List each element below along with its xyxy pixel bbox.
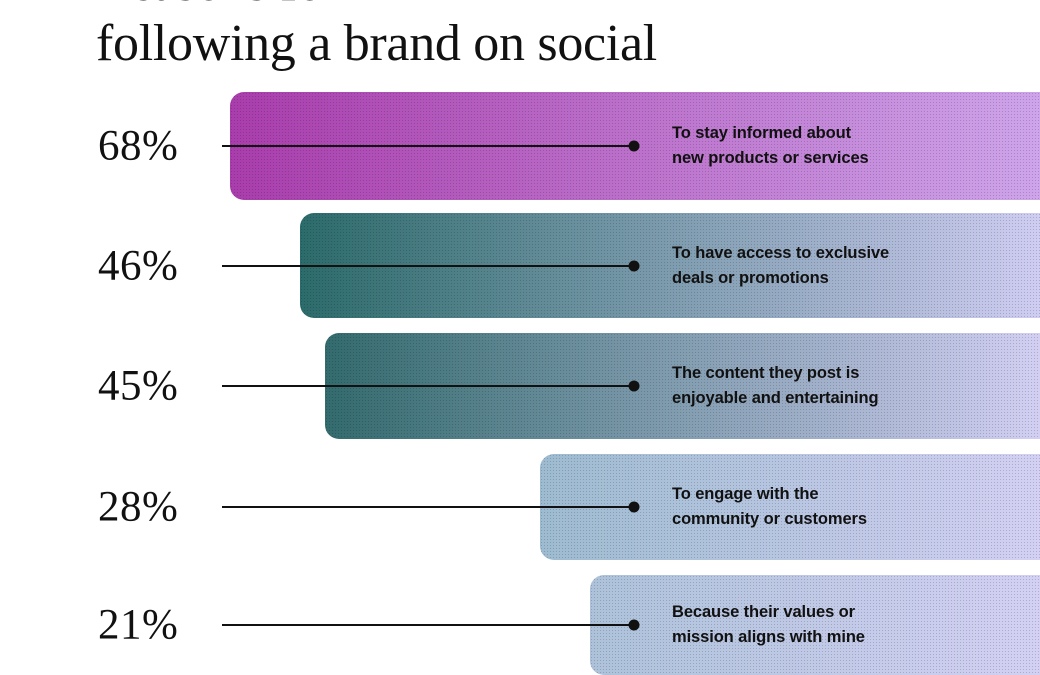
- leader-dot: [629, 260, 640, 271]
- page-title: Reasons for following a brand on social: [96, 0, 976, 74]
- bar-row: 46%To have access to exclusive deals or …: [0, 213, 1040, 318]
- leader-dot: [629, 381, 640, 392]
- leader-line: [222, 385, 634, 387]
- bar-category-label: To have access to exclusive deals or pro…: [672, 241, 1012, 291]
- bar-value-label: 21%: [98, 604, 223, 647]
- bar-row: 68%To stay informed about new products o…: [0, 92, 1040, 200]
- bar-value-label: 68%: [98, 125, 223, 168]
- infographic-root: Reasons for following a brand on social …: [0, 0, 1040, 675]
- bar-row: 21%Because their values or mission align…: [0, 575, 1040, 675]
- bar-category-label: To engage with the community or customer…: [672, 482, 1012, 532]
- bar-category-label: Because their values or mission aligns w…: [672, 600, 1012, 650]
- bar-category-label: The content they post is enjoyable and e…: [672, 361, 1012, 411]
- bar-row: 28%To engage with the community or custo…: [0, 454, 1040, 560]
- bar-value-label: 28%: [98, 486, 223, 529]
- bar-category-label: To stay informed about new products or s…: [672, 121, 1012, 171]
- leader-dot: [629, 502, 640, 513]
- leader-line: [222, 506, 634, 508]
- leader-line: [222, 624, 634, 626]
- leader-dot: [629, 620, 640, 631]
- bar-row: 45%The content they post is enjoyable an…: [0, 333, 1040, 439]
- bar-value-label: 45%: [98, 365, 223, 408]
- leader-dot: [629, 141, 640, 152]
- leader-line: [222, 265, 634, 267]
- leader-line: [222, 145, 634, 147]
- bar-value-label: 46%: [98, 244, 223, 287]
